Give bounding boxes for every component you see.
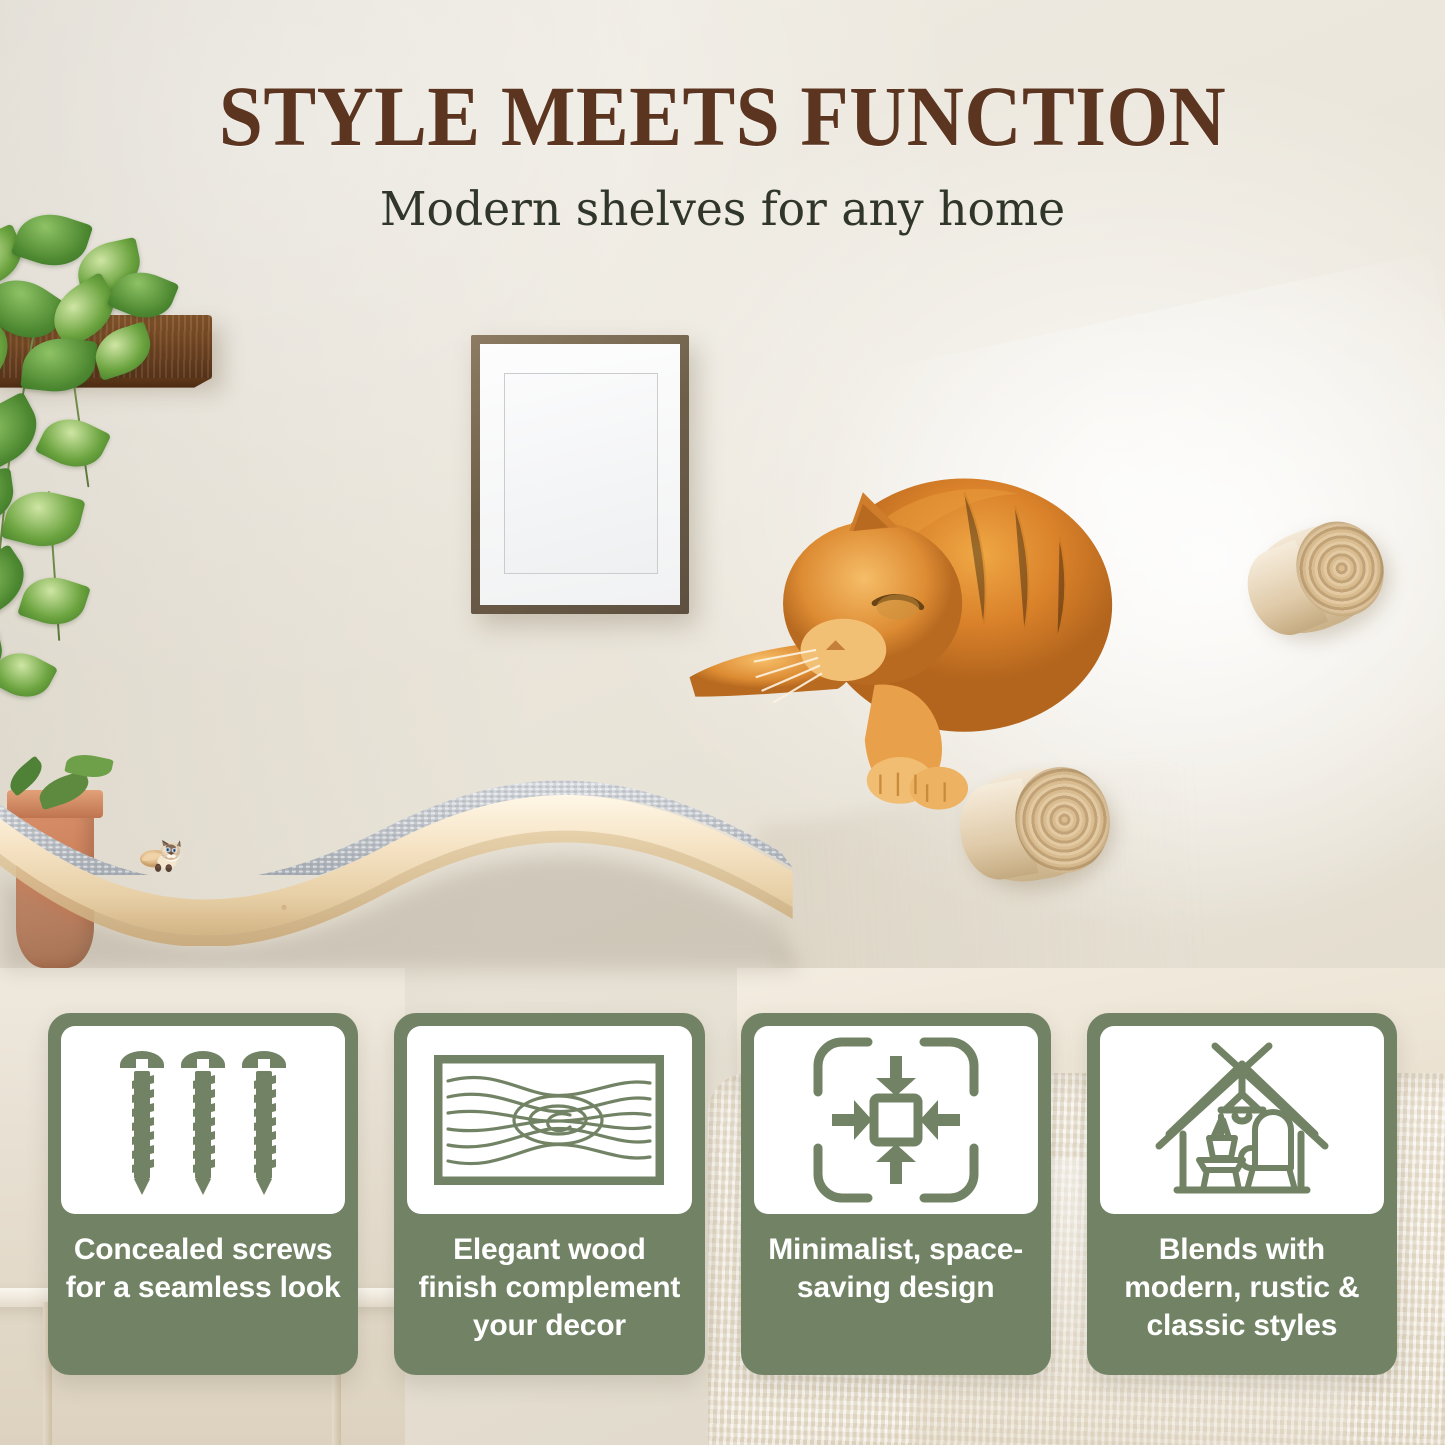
- screws-icon: [61, 1026, 345, 1214]
- feature-card-label: Minimalist, space-saving design: [754, 1231, 1038, 1307]
- page-title: STYLE MEETS FUNCTION: [58, 66, 1387, 166]
- feature-card-concealed-screws[interactable]: Concealed screws for a seamless look: [48, 1013, 358, 1375]
- frame-inner-border: [504, 373, 658, 574]
- leaf: [17, 568, 91, 633]
- leaf: [0, 643, 58, 708]
- feature-card-blends-styles[interactable]: Blends with modern, rustic & classic sty…: [1087, 1013, 1397, 1375]
- feature-card-space-saving[interactable]: Minimalist, space-saving design: [741, 1013, 1051, 1375]
- leaf: [34, 408, 111, 478]
- frame-mat-board: [480, 344, 680, 605]
- feature-card-wood-finish[interactable]: Elegant wood finish complement your deco…: [394, 1013, 704, 1375]
- feature-card-list: Concealed screws for a seamless look: [48, 1013, 1397, 1375]
- house-interior-icon: [1100, 1026, 1384, 1214]
- pothos-plant: [0, 224, 231, 701]
- siamese-cat: [51, 840, 278, 873]
- leaf: [0, 392, 49, 475]
- page-subtitle: Modern shelves for any home: [22, 182, 1424, 237]
- feature-card-label: Blends with modern, rustic & classic sty…: [1100, 1231, 1384, 1344]
- space-saving-arrows-icon: [754, 1026, 1038, 1214]
- product-infographic: STYLE MEETS FUNCTION Modern shelves for …: [0, 0, 1445, 1445]
- feature-card-label: Concealed screws for a seamless look: [61, 1231, 345, 1307]
- feature-card-label: Elegant wood finish complement your deco…: [407, 1231, 691, 1344]
- wood-grain-icon: [407, 1026, 691, 1214]
- picture-frame: [471, 335, 689, 614]
